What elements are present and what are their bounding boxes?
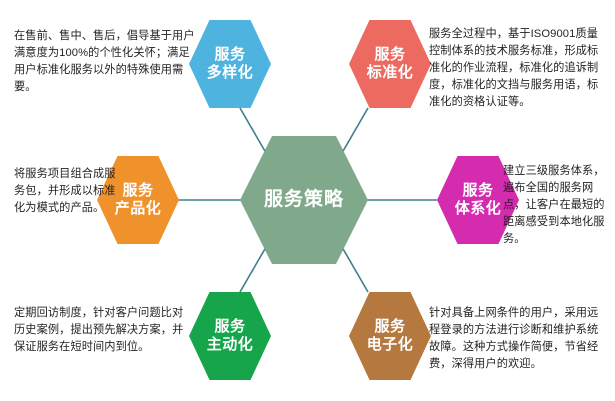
hex-center-service-strategy[interactable]: 服务策略 <box>240 136 368 264</box>
hex-node-productization-label-line-1: 服务 <box>122 182 153 200</box>
hex-node-electronization-label-line-2: 电子化 <box>367 336 414 354</box>
hex-node-electronization[interactable]: 服务 电子化 <box>349 292 431 380</box>
hex-node-productization-label-line-2: 产品化 <box>115 200 162 218</box>
service-strategy-diagram: 服务策略 服务 多样化 在售前、售中、售后，倡导基于用户满意度为100%的个性化… <box>0 0 615 401</box>
hex-node-systematization-label-line-1: 服务 <box>462 182 493 200</box>
hex-center-label-line-1: 服务策略 <box>264 188 344 211</box>
description-electronization: 针对具备上网条件的用户，采用远程登录的方法进行诊断和维护系统故障。这种方式操作简… <box>429 305 609 373</box>
hex-node-diversification-label-line-2: 多样化 <box>207 64 254 82</box>
hex-node-standardization-label-line-2: 标准化 <box>367 64 414 82</box>
hex-node-electronization-label-line-1: 服务 <box>374 318 405 336</box>
description-systematization: 建立三级服务体系，遍布全国的服务网点，让客户在最短的距离感受到本地化服务。 <box>503 163 607 248</box>
hex-node-systematization-label-line-2: 体系化 <box>455 200 502 218</box>
hex-node-proactivity[interactable]: 服务 主动化 <box>189 292 271 380</box>
description-standardization: 服务全过程中，基于ISO9001质量控制体系的技术服务标准，形成标准化的作业流程… <box>429 26 609 111</box>
description-diversification: 在售前、售中、售后，倡导基于用户满意度为100%的个性化关怀；满足用户标准化服务… <box>14 28 200 96</box>
hex-node-diversification[interactable]: 服务 多样化 <box>189 20 271 108</box>
description-proactivity: 定期回访制度，针对客户问题比对历史案例，提出预先解决方案，并保证服务在短时间内到… <box>14 305 188 356</box>
hex-node-proactivity-label-line-1: 服务 <box>214 318 245 336</box>
hex-node-standardization[interactable]: 服务 标准化 <box>349 20 431 108</box>
description-productization: 将服务项目组合成服务包，并形成以标准化为模式的产品。 <box>14 166 118 217</box>
hex-node-diversification-label-line-1: 服务 <box>214 46 245 64</box>
hex-node-proactivity-label-line-2: 主动化 <box>207 336 254 354</box>
hex-node-standardization-label-line-1: 服务 <box>374 46 405 64</box>
